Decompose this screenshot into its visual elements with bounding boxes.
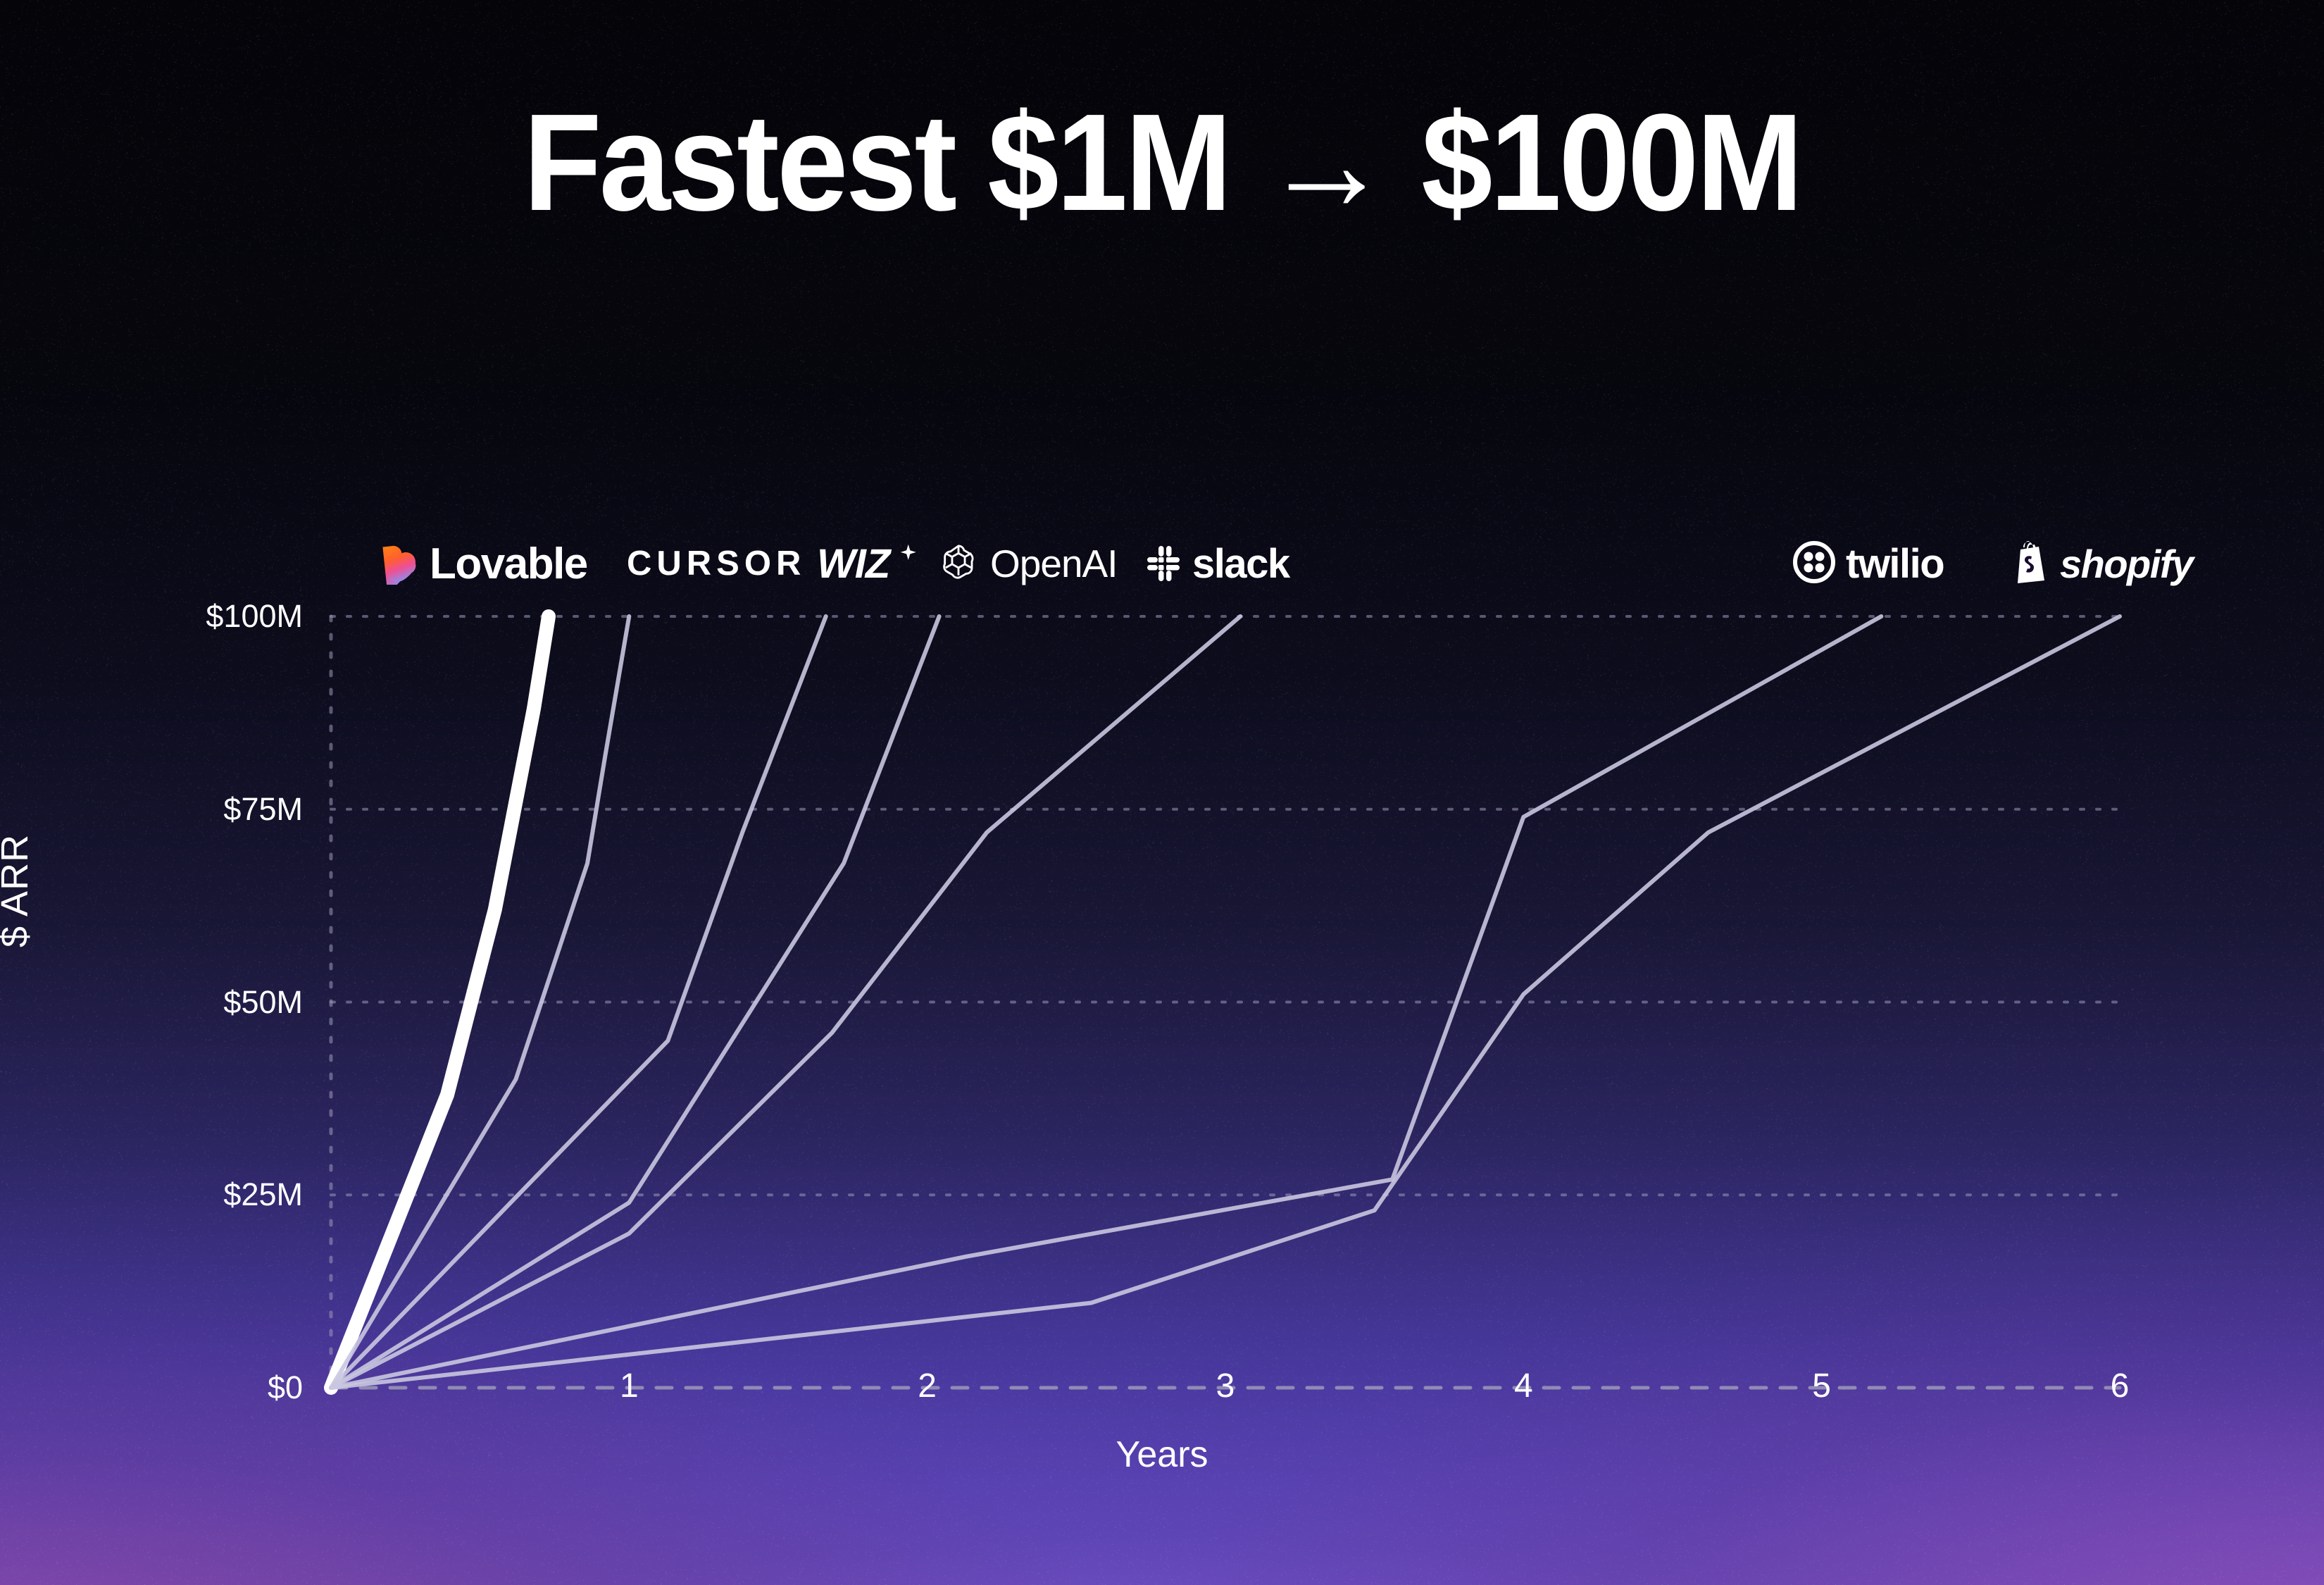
x-tick-4: 4: [1514, 1367, 1533, 1405]
x-tick-1: 1: [620, 1367, 639, 1405]
x-tick-5: 5: [1812, 1367, 1831, 1405]
plot-area: $0$25M$50M$75M$100M 123456 $ ARR Years: [0, 0, 2324, 1585]
x-axis-title: Years: [0, 1434, 2324, 1476]
chart-canvas: Fastest $1M → $100M: [0, 0, 2324, 1585]
x-tick-6: 6: [2111, 1367, 2130, 1405]
y-tick-75M: $75M: [70, 791, 303, 828]
y-tick-100M: $100M: [70, 598, 303, 635]
y-tick-25M: $25M: [70, 1176, 303, 1213]
chart-lines-svg: [0, 0, 2324, 1585]
x-tick-2: 2: [918, 1367, 937, 1405]
x-tick-3: 3: [1216, 1367, 1235, 1405]
y-axis-title: $ ARR: [0, 834, 37, 947]
y-tick-0: $0: [70, 1369, 303, 1406]
y-tick-50M: $50M: [70, 984, 303, 1021]
